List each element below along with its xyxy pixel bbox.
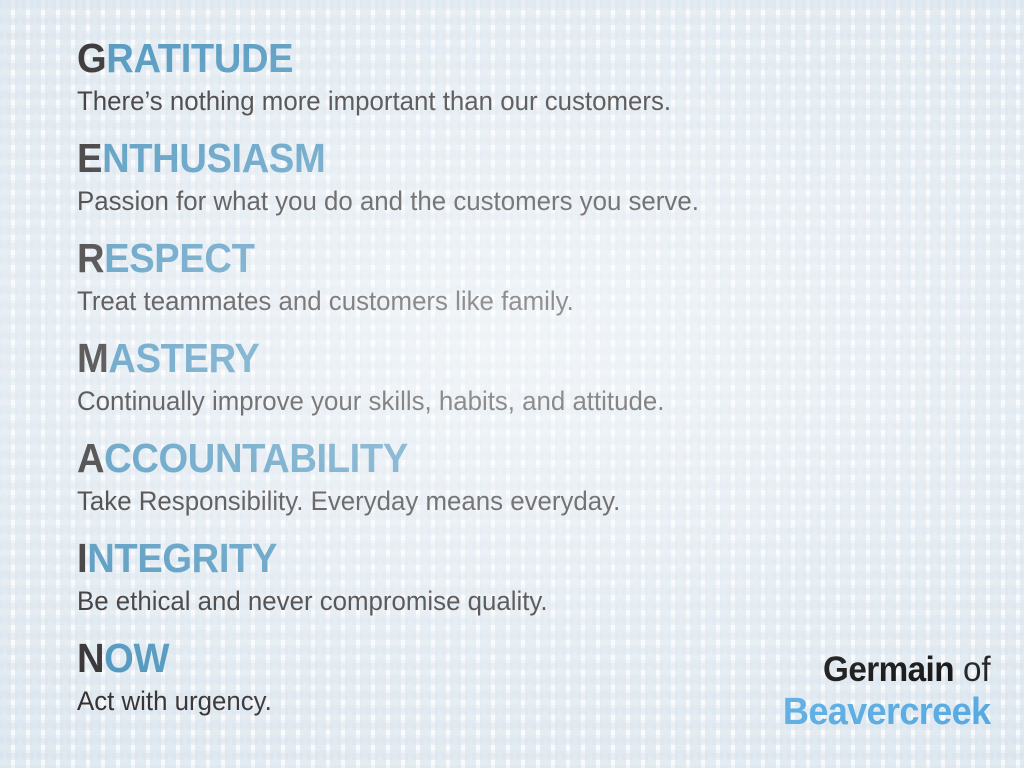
value-heading-enthusiasm: ENTHUSIASM: [77, 136, 942, 181]
value-heading-respect: RESPECT: [77, 236, 942, 281]
value-heading-integrity: INTEGRITY: [77, 536, 942, 581]
value-heading-accountability: ACCOUNTABILITY: [77, 436, 942, 481]
logo-location-name: Beavercreek: [783, 690, 990, 734]
value-initial-letter: M: [77, 335, 108, 381]
value-heading-rest: CCOUNTABILITY: [104, 435, 408, 481]
value-description-respect: Treat teammates and customers like famil…: [77, 285, 984, 318]
value-initial-letter: E: [77, 135, 102, 181]
value-description-enthusiasm: Passion for what you do and the customer…: [77, 185, 984, 218]
logo-brand-name: Germain: [823, 650, 954, 689]
value-initial-letter: R: [77, 235, 104, 281]
value-heading-rest: OW: [104, 635, 169, 681]
value-block-gratitude: GRATITUDE There’s nothing more important…: [77, 36, 1007, 136]
values-list: GRATITUDE There’s nothing more important…: [77, 36, 1007, 736]
value-description-integrity: Be ethical and never compromise quality.: [77, 585, 984, 618]
value-description-accountability: Take Responsibility. Everyday means ever…: [77, 485, 984, 518]
value-block-mastery: MASTERY Continually improve your skills,…: [77, 336, 1007, 436]
value-heading-rest: ESPECT: [104, 235, 254, 281]
value-heading-rest: RATITUDE: [106, 35, 293, 81]
logo-top-line: Germain of: [783, 650, 990, 690]
value-initial-letter: I: [77, 535, 87, 581]
value-block-accountability: ACCOUNTABILITY Take Responsibility. Ever…: [77, 436, 1007, 536]
value-description-gratitude: There’s nothing more important than our …: [77, 85, 984, 118]
values-poster: GRATITUDE There’s nothing more important…: [0, 0, 1024, 768]
value-description-mastery: Continually improve your skills, habits,…: [77, 385, 984, 418]
value-heading-rest: NTEGRITY: [87, 535, 277, 581]
value-block-respect: RESPECT Treat teammates and customers li…: [77, 236, 1007, 336]
value-initial-letter: A: [77, 435, 104, 481]
value-heading-mastery: MASTERY: [77, 336, 942, 381]
value-initial-letter: N: [77, 635, 104, 681]
value-heading-gratitude: GRATITUDE: [77, 36, 942, 81]
value-initial-letter: G: [77, 35, 106, 81]
logo-connector-word: of: [954, 650, 990, 689]
value-heading-rest: ASTERY: [108, 335, 259, 381]
dealership-logo: Germain of Beavercreek: [772, 650, 990, 734]
value-heading-rest: NTHUSIASM: [102, 135, 325, 181]
value-block-integrity: INTEGRITY Be ethical and never compromis…: [77, 536, 1007, 636]
value-block-enthusiasm: ENTHUSIASM Passion for what you do and t…: [77, 136, 1007, 236]
